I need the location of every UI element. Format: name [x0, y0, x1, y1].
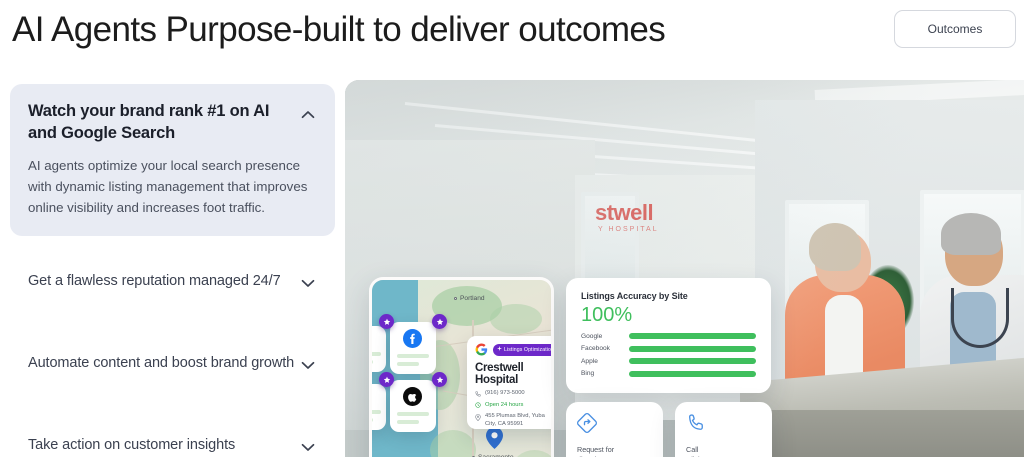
accordion-item-customer-insights[interactable]: Take action on customer insights [10, 414, 335, 457]
features-accordion: Watch your brand rank #1 on AI and Googl… [10, 84, 335, 457]
accordion-title: Get a flawless reputation managed 24/7 [28, 271, 281, 291]
chevron-down-icon[interactable] [297, 272, 319, 294]
directions-icon [577, 420, 597, 437]
listing-card-partial[interactable] [369, 326, 386, 372]
business-address: 455 Plumas Blvd, Yuba City, CA 95991 [485, 413, 545, 428]
verified-badge-icon [379, 314, 394, 329]
business-hours-row: Open 24 hours [475, 402, 554, 410]
accuracy-row-label: Google [581, 333, 629, 340]
landing-section: AI Agents Purpose-built to deliver outco… [0, 0, 1024, 457]
chevron-down-icon[interactable] [297, 436, 319, 457]
business-address-row: 455 Plumas Blvd, Yuba City, CA 95991 [475, 413, 554, 428]
facebook-icon [403, 329, 422, 353]
sparkle-icon [497, 346, 502, 353]
accuracy-row-bar [629, 333, 756, 339]
verified-badge-icon [432, 372, 447, 387]
accordion-title: Take action on customer insights [28, 435, 235, 455]
accuracy-row: Apple [581, 358, 756, 365]
business-address-line1: 455 Plumas Blvd, Yuba [485, 413, 545, 419]
accuracy-percent: 100% [581, 303, 756, 327]
accordion-item-reputation[interactable]: Get a flawless reputation managed 24/7 [10, 250, 335, 312]
chevron-up-icon[interactable] [297, 104, 319, 126]
phone-call-icon [686, 420, 706, 437]
page-header: AI Agents Purpose-built to deliver outco… [0, 0, 1024, 68]
accuracy-row: Facebook [581, 345, 756, 352]
stat-card-call-clicks: Call Clicks 726 +92% [675, 402, 772, 457]
accuracy-row: Bing [581, 370, 756, 377]
outcomes-button[interactable]: Outcomes [894, 10, 1016, 48]
stat-card-request-direction: Request for direction 1,126 +89% [566, 402, 663, 457]
outcomes-button-label: Outcomes [928, 22, 983, 36]
stat-label-line1: Call [686, 445, 698, 454]
accuracy-row-label: Facebook [581, 345, 629, 352]
apple-icon [403, 387, 422, 411]
business-listing-card[interactable]: Listings Optimization Agent Crestwell Ho… [467, 336, 554, 429]
accuracy-card-title: Listings Accuracy by Site [581, 291, 756, 301]
agent-pill-label: Listings Optimization Agent [504, 347, 554, 353]
accordion-header-brand-rank[interactable]: Watch your brand rank #1 on AI and Googl… [28, 100, 319, 144]
accuracy-row-label: Bing [581, 370, 629, 377]
accuracy-row-bar [629, 346, 756, 352]
listing-card-partial[interactable] [369, 384, 386, 430]
stat-card-label: Call Clicks [686, 445, 762, 457]
business-hours: Open 24 hours [485, 402, 523, 410]
accuracy-row-bar [629, 371, 756, 377]
business-phone: (916) 973-5000 [485, 390, 525, 398]
verified-badge-icon [432, 314, 447, 329]
stat-label-line1: Request for [577, 445, 614, 454]
map-city-dot [454, 297, 457, 300]
clock-icon [475, 402, 481, 409]
accordion-body-text: AI agents optimize your local search pre… [28, 155, 319, 218]
accordion-title: Watch your brand rank #1 on AI and Googl… [28, 100, 283, 144]
business-phone-row: (916) 973-5000 [475, 390, 554, 398]
accordion-item-brand-rank[interactable]: Watch your brand rank #1 on AI and Googl… [10, 84, 335, 236]
business-name: Crestwell Hospital [475, 362, 554, 386]
feature-visual-panel: stwell Y HOSPITAL Portland NEVADA Sacram… [345, 80, 1024, 457]
accordion-item-automate-content[interactable]: Automate content and boost brand growth [10, 332, 335, 394]
accuracy-row: Google [581, 333, 756, 340]
chevron-down-icon[interactable] [297, 354, 319, 376]
location-pin-icon [475, 414, 481, 421]
map-pin-icon[interactable] [486, 427, 503, 449]
map-card[interactable]: Portland NEVADA Sacramento San Francisco… [369, 277, 554, 457]
listing-card-apple[interactable] [390, 380, 436, 432]
verified-badge-icon [379, 372, 394, 387]
listing-card-facebook[interactable] [390, 322, 436, 374]
listings-optimization-agent-pill[interactable]: Listings Optimization Agent [493, 344, 554, 356]
accuracy-row-bar [629, 358, 756, 364]
stat-card-label: Request for direction [577, 445, 653, 457]
listings-accuracy-card: Listings Accuracy by Site 100% Google Fa… [566, 278, 771, 393]
accuracy-row-label: Apple [581, 358, 629, 365]
map-label: Portland [460, 295, 485, 302]
phone-icon [475, 391, 481, 398]
accordion-title: Automate content and boost brand growth [28, 353, 294, 373]
page-title: AI Agents Purpose-built to deliver outco… [12, 8, 665, 52]
google-icon [475, 343, 488, 356]
business-address-line2: City, CA 95991 [485, 421, 523, 427]
